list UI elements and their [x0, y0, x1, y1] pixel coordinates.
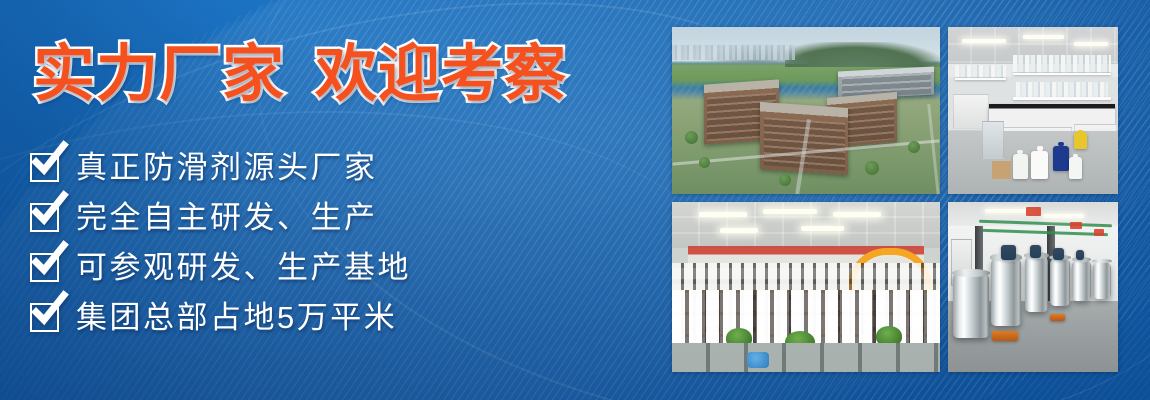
plant-tank	[1025, 256, 1049, 312]
plant-tank-motor	[1053, 248, 1063, 260]
plant-orange-cart	[992, 331, 1018, 341]
feature-text: 完全自主研发、生产	[76, 202, 378, 233]
lab-bottles-row	[1016, 82, 1108, 98]
list-item: 真正防滑剂源头厂家	[30, 143, 630, 192]
office-ceiling-light	[763, 209, 817, 214]
office-ceiling-light	[699, 212, 747, 217]
lab-bottles-row	[955, 65, 1006, 78]
plant-tank-motor	[1076, 250, 1085, 260]
lab-shelf	[1013, 97, 1112, 100]
office-water-cooler	[747, 352, 769, 368]
plant-tank	[991, 258, 1022, 326]
campus-distant-city	[672, 45, 795, 60]
plant-tank	[1093, 262, 1112, 299]
feature-text: 可参观研发、生产基地	[76, 252, 411, 283]
checkbox-checked-icon	[30, 153, 59, 182]
list-item: 可参观研发、生产基地	[30, 243, 630, 292]
banner-text-column: 实力厂家欢迎考察 真正防滑剂源头厂家 完全自主研发、生产	[0, 0, 660, 400]
checkbox-checked-icon	[30, 253, 59, 282]
lab-jug-white	[1031, 151, 1048, 179]
lab-carton	[992, 161, 1011, 179]
lab-jug-yellow	[1074, 132, 1088, 149]
campus-tree	[865, 161, 879, 175]
headline-part-1: 实力厂家	[33, 40, 285, 109]
office-desk-row	[672, 343, 940, 372]
feature-text: 真正防滑剂源头厂家	[76, 152, 378, 183]
lab-ceiling-light	[1023, 35, 1064, 39]
plant-tank	[1050, 258, 1070, 306]
feature-text: 集团总部占地5万平米	[76, 302, 397, 333]
lab-jug-blue	[1053, 146, 1068, 171]
lab-instrument	[982, 121, 1004, 160]
campus-tree	[699, 157, 710, 168]
plant-tank	[1072, 260, 1091, 301]
photo-gallery	[672, 27, 1118, 372]
plant-orange-cart	[1050, 314, 1065, 321]
plant-red-fixture	[1094, 229, 1104, 236]
lab-ceiling-light	[1074, 42, 1108, 46]
office-ceiling-light	[720, 228, 758, 233]
photo-aerial-campus	[672, 27, 940, 194]
lab-bottles-row	[1013, 55, 1112, 73]
photo-laboratory	[948, 27, 1118, 194]
promo-banner: 实力厂家欢迎考察 真正防滑剂源头厂家 完全自主研发、生产	[0, 0, 1150, 400]
lab-jug-white	[1013, 154, 1028, 179]
plant-red-fixture	[1026, 207, 1041, 216]
banner-headline: 实力厂家欢迎考察	[33, 44, 567, 106]
list-item: 集团总部占地5万平米	[30, 293, 630, 342]
campus-road-3	[927, 104, 940, 194]
plant-tank	[953, 273, 989, 338]
plant-tank-motor	[1001, 245, 1016, 260]
plant-tank-motor	[1030, 245, 1042, 259]
photo-production-tanks	[948, 202, 1118, 372]
campus-tree	[779, 174, 791, 186]
banner-feature-list: 真正防滑剂源头厂家 完全自主研发、生产 可参观研发、生产基地	[30, 143, 630, 343]
headline-part-2: 欢迎考察	[315, 40, 567, 109]
plant-light-tube	[1043, 214, 1084, 218]
checkbox-checked-icon	[30, 303, 59, 332]
office-ceiling-light	[833, 212, 881, 217]
lab-jug-white	[1069, 157, 1083, 179]
office-ceiling-light	[801, 226, 844, 231]
campus-tree	[908, 141, 920, 153]
photo-staff-office	[672, 202, 940, 372]
list-item: 完全自主研发、生产	[30, 193, 630, 242]
plant-red-fixture	[1070, 222, 1082, 229]
checkbox-checked-icon	[30, 203, 59, 232]
campus-tree	[685, 131, 698, 144]
lab-ceiling-light	[962, 39, 1006, 43]
